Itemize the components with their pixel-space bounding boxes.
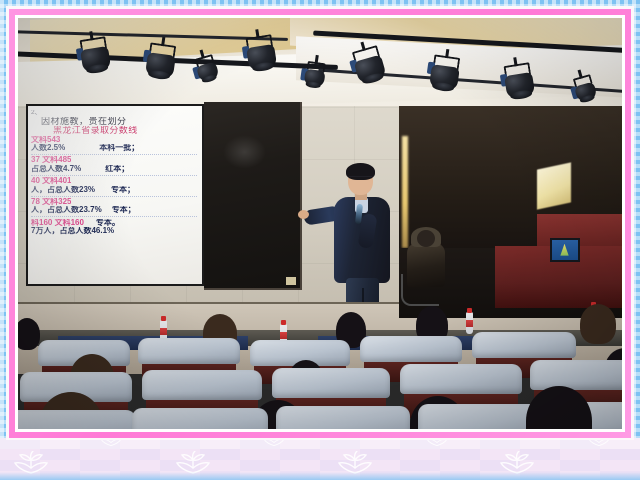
auditorium-seat <box>400 364 522 394</box>
slide-cell-left: 科160 文科160 <box>31 219 84 227</box>
bottle-cap <box>281 320 286 325</box>
control-monitor <box>550 238 580 262</box>
glasses-icon <box>349 176 372 182</box>
wall-dark-panel <box>204 102 302 290</box>
panel-reflection <box>223 135 266 168</box>
pink-border-ring: 2、 因材施教，贵在划分 黑龙江省录取分数线 文科543 人数2.5% 本科一批… <box>9 9 631 438</box>
auditorium-seat <box>142 370 262 400</box>
slide-cell-right: 专本； <box>112 206 136 214</box>
auditorium-seat <box>530 360 622 390</box>
auditorium-seat <box>138 338 240 364</box>
projection-screen-surface: 2、 因材施教，贵在划分 黑龙江省录取分数线 文科543 人数2.5% 本科一批… <box>28 106 202 284</box>
projection-screen: 2、 因材施教，贵在划分 黑龙江省录取分数线 文科543 人数2.5% 本科一批… <box>26 104 204 286</box>
stage-light <box>78 36 113 74</box>
slide-row: 科160 文科160 专本。 <box>31 219 197 227</box>
auditorium-seat <box>360 336 462 362</box>
slide-cell-left: 7万人，占总人数46.1% <box>31 227 114 235</box>
slide-row: 人，占总人数23.7% 专本； <box>31 206 197 214</box>
slide-title: 因材施教，贵在划分 <box>31 117 197 126</box>
slide-row: 人数2.5% 本科一批； <box>31 144 197 152</box>
stage-light <box>244 34 279 72</box>
operator-body <box>407 243 445 287</box>
auditorium-seat <box>18 410 136 429</box>
water-bottle <box>466 312 473 334</box>
slide-cell-left: 37 文科485 <box>31 156 71 164</box>
bottle-label <box>280 332 287 339</box>
stage-light <box>428 54 462 92</box>
slide-row: 文科543 <box>31 136 197 144</box>
audience-head <box>580 304 616 344</box>
slide-cell-left: 文科543 <box>31 136 60 144</box>
slide-subtitle: 黑龙江省录取分数线 <box>31 126 197 135</box>
slide-row: 37 文科485 <box>31 156 197 164</box>
auditorium-seat <box>276 406 410 429</box>
slide-row: 人，占总人数23% 专本； <box>31 186 197 194</box>
stage-light <box>144 42 178 80</box>
slide-divider <box>31 175 197 176</box>
slide-divider <box>31 216 197 217</box>
presenter-hand <box>298 210 309 219</box>
slide-cell-left: 40 文科401 <box>31 177 71 185</box>
stage-light <box>302 61 327 90</box>
slide-line: 2、 <box>31 110 197 117</box>
inner-white-border: 2、 因材施教，贵在划分 黑龙江省录取分数线 文科543 人数2.5% 本科一批… <box>15 15 625 432</box>
slide-cell-left: 人数2.5% <box>31 144 65 152</box>
photograph: 2、 因材施教，贵在划分 黑龙江省录取分数线 文科543 人数2.5% 本科一批… <box>18 18 622 429</box>
slide-cell-right: 专本。 <box>96 219 120 227</box>
operator-head <box>417 230 435 247</box>
slide-divider <box>31 196 197 197</box>
slide-row: 40 文科401 <box>31 177 197 185</box>
auditorium-seat <box>132 408 268 429</box>
bottle-label <box>160 328 167 335</box>
stage-light <box>502 62 537 100</box>
slide-row: 7万人，占总人数46.1% <box>31 227 197 235</box>
slide-cell-left: 人，占总人数23.7% <box>31 206 102 214</box>
av-operator <box>405 230 453 302</box>
presenter <box>318 166 410 314</box>
band-bottom-fade <box>0 472 640 480</box>
panel-label-tag <box>286 277 296 285</box>
slide-cell-left: 占总人数4.7% <box>31 165 81 173</box>
slide-row: 占总人数4.7% 红本； <box>31 165 197 173</box>
slide-cell-left: 人，占总人数23% <box>31 186 95 194</box>
auditorium-seat <box>472 332 576 358</box>
slide-cell-right: 专本； <box>111 186 135 194</box>
auditorium-seat <box>272 368 390 398</box>
slide-cell-left: 78 文科325 <box>31 198 71 206</box>
slide-cell-right: 本科一批； <box>99 144 139 152</box>
slide-cell-right: 红本； <box>105 165 129 173</box>
monitor-graphic-icon <box>560 244 568 256</box>
wall-lamp-glow <box>537 162 571 209</box>
bottle-cap <box>161 316 166 321</box>
slide-row: 78 文科325 <box>31 198 197 206</box>
bottle-label <box>466 320 473 327</box>
audience-head <box>18 318 40 350</box>
slide-divider <box>31 154 197 155</box>
decorative-photo-frame: 2、 因材施教，贵在划分 黑龙江省录取分数线 文科543 人数2.5% 本科一批… <box>0 0 640 480</box>
footer-decorative-band <box>0 438 640 480</box>
bottle-cap <box>467 308 472 313</box>
monitor-screen <box>552 240 578 260</box>
